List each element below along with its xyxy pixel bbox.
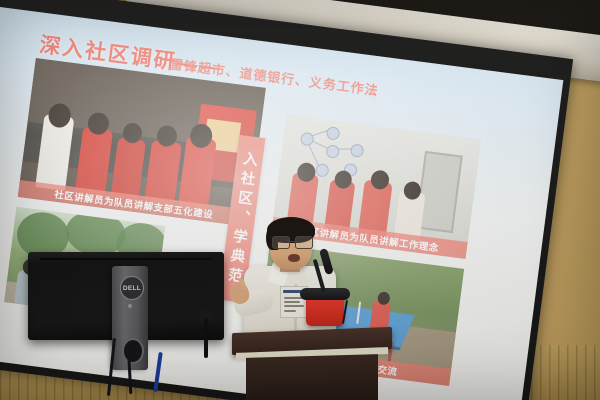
slide-photo-top-left: 社区讲解员为队员讲解支部五化建设: [18, 58, 266, 227]
dell-logo-text: DELL: [123, 285, 141, 292]
presenter-mouth: [288, 254, 300, 262]
dell-logo-icon: DELL: [120, 276, 144, 300]
podium-body: [246, 354, 378, 400]
glasses-icon: [272, 236, 314, 248]
desk-antenna-stalk: [204, 318, 208, 358]
podium: [232, 330, 392, 400]
microphone-base: [306, 296, 344, 326]
cable-hole-icon: [122, 338, 144, 364]
monitor-vent-seam: [40, 258, 212, 260]
screenshot-root: 深入社区调研—— 雷锋超市、道德银行、义务工作法 社区讲解员为队员讲解支部五: [0, 0, 600, 400]
monitor-power-led: [128, 304, 132, 308]
dell-monitor: DELL: [28, 252, 224, 350]
